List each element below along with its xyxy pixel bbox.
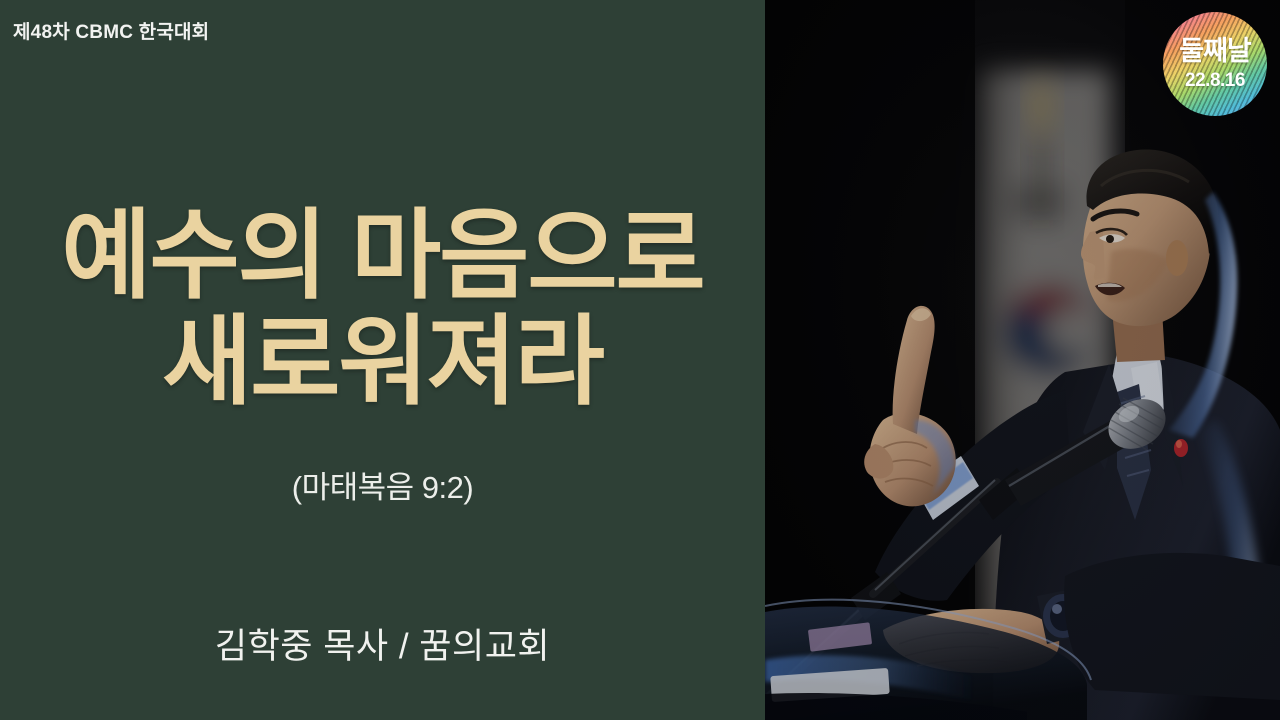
- left-text-panel: 제48차 CBMC 한국대회 예수의 마음으로 새로워져라 (마태복음 9:2)…: [0, 0, 765, 720]
- sermon-title: 예수의 마음으로 새로워져라: [0, 206, 765, 412]
- event-header-title: 제48차 CBMC 한국대회: [13, 17, 209, 44]
- day-badge: 둘째날 22.8.16: [1163, 12, 1267, 116]
- scripture-reference: (마태복음 9:2): [0, 462, 765, 507]
- day-badge-date-label: 22.8.16: [1185, 71, 1245, 90]
- sermon-title-line-2: 새로워져라: [0, 312, 765, 412]
- speaker-credit: 김학중 목사 / 꿈의교회: [0, 618, 765, 669]
- title-card-slide: 제48차 CBMC 한국대회 예수의 마음으로 새로워져라 (마태복음 9:2)…: [0, 0, 1280, 720]
- day-badge-day-label: 둘째날: [1179, 38, 1251, 65]
- sermon-title-line-1: 예수의 마음으로: [0, 206, 765, 306]
